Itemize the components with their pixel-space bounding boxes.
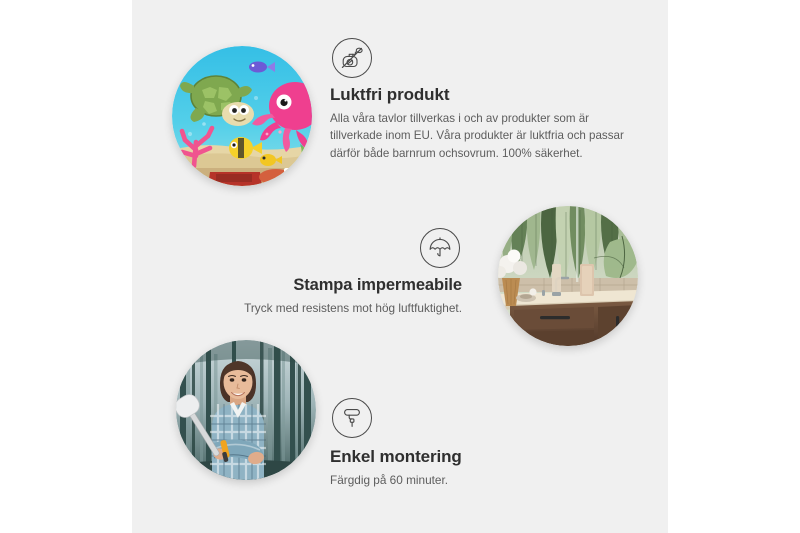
feature-odorless-body: Alla våra tavlor tillverkas i och av pro… bbox=[330, 110, 630, 163]
no-odor-spray-bottle-icon bbox=[332, 38, 372, 78]
umbrella-icon bbox=[420, 228, 460, 268]
bathroom-tropical-wallpaper-thumbnail[interactable] bbox=[498, 206, 638, 346]
underwater-kids-mural-thumbnail[interactable] bbox=[172, 46, 312, 186]
feature-easy-install: Enkel montering Färgdig på 60 minuter. bbox=[330, 398, 600, 489]
painter-in-forest-thumbnail[interactable] bbox=[176, 340, 316, 480]
feature-easy-install-title: Enkel montering bbox=[330, 447, 600, 467]
paint-roller-icon bbox=[332, 398, 372, 438]
feature-waterproof-body: Tryck med resistens mot hög luftfuktighe… bbox=[200, 300, 462, 318]
promo-banner: Luktfri produkt Alla våra tavlor tillver… bbox=[0, 0, 800, 533]
feature-odorless-title: Luktfri produkt bbox=[330, 85, 630, 105]
feature-odorless: Luktfri produkt Alla våra tavlor tillver… bbox=[330, 38, 630, 162]
feature-waterproof: Stampa impermeabile Tryck med resistens … bbox=[200, 228, 462, 318]
feature-easy-install-body: Färgdig på 60 minuter. bbox=[330, 472, 600, 490]
feature-waterproof-title: Stampa impermeabile bbox=[200, 276, 462, 295]
